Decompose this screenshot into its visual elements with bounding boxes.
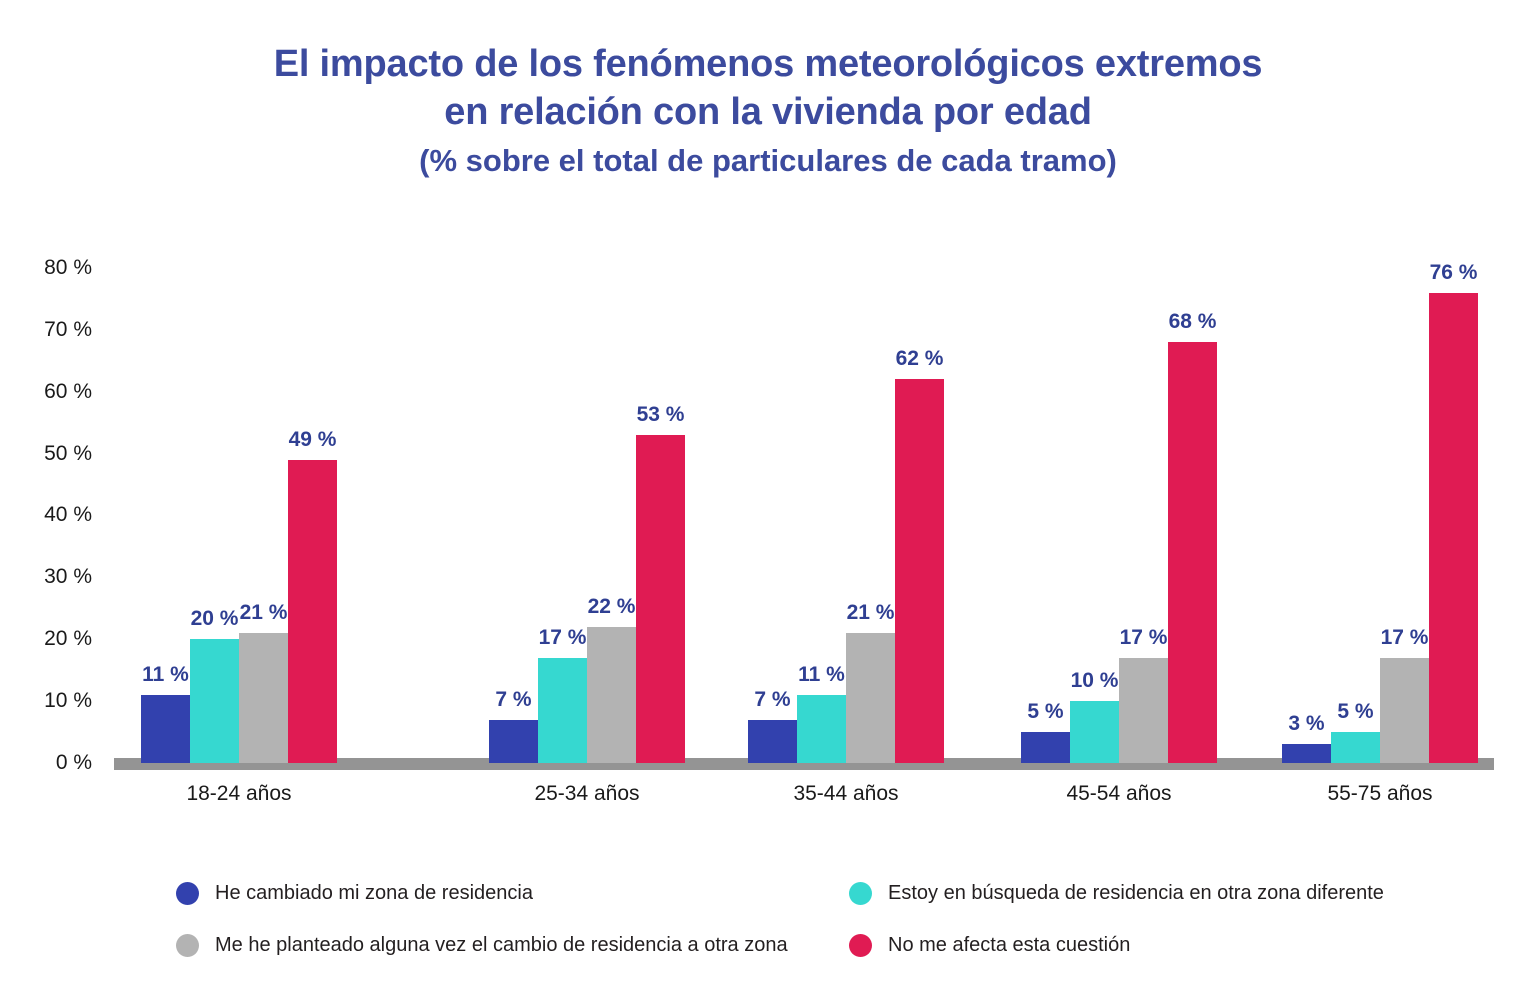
- bar[interactable]: [1119, 658, 1168, 763]
- legend-item[interactable]: Estoy en búsqueda de residencia en otra …: [849, 882, 1384, 905]
- bar[interactable]: [846, 633, 895, 763]
- legend-item[interactable]: He cambiado mi zona de residencia: [176, 882, 533, 905]
- bar[interactable]: [748, 720, 797, 763]
- legend-item[interactable]: Me he planteado alguna vez el cambio de …: [176, 934, 788, 957]
- chart-legend: He cambiado mi zona de residenciaEstoy e…: [0, 872, 1536, 992]
- bar[interactable]: [1168, 342, 1217, 763]
- bar[interactable]: [1282, 744, 1331, 763]
- legend-item[interactable]: No me afecta esta cuestión: [849, 934, 1130, 957]
- plot-area: 11 %20 %21 %49 %7 %17 %22 %53 %7 %11 %21…: [0, 0, 1536, 1001]
- x-axis-tick-label: 25-34 años: [437, 782, 737, 806]
- x-axis-tick-label: 35-44 años: [696, 782, 996, 806]
- bar[interactable]: [797, 695, 846, 763]
- bar[interactable]: [239, 633, 288, 763]
- bar-value-label: 49 %: [268, 428, 358, 452]
- legend-item-label: No me afecta esta cuestión: [888, 934, 1130, 957]
- x-axis-tick-label: 55-75 años: [1230, 782, 1530, 806]
- bar-value-label: 76 %: [1409, 261, 1499, 285]
- bar-chart: 0 %10 %20 %30 %40 %50 %60 %70 %80 % 11 %…: [0, 0, 1536, 1001]
- bar[interactable]: [190, 639, 239, 763]
- legend-swatch-icon: [849, 882, 872, 905]
- x-axis-tick-label: 45-54 años: [969, 782, 1269, 806]
- bar[interactable]: [288, 460, 337, 763]
- bar[interactable]: [587, 627, 636, 763]
- bar-value-label: 53 %: [616, 403, 706, 427]
- bar[interactable]: [636, 435, 685, 763]
- bar[interactable]: [1070, 701, 1119, 763]
- bar[interactable]: [1021, 732, 1070, 763]
- legend-item-label: He cambiado mi zona de residencia: [215, 882, 533, 905]
- bar[interactable]: [1380, 658, 1429, 763]
- legend-swatch-icon: [176, 934, 199, 957]
- legend-item-label: Me he planteado alguna vez el cambio de …: [215, 934, 788, 957]
- x-axis-tick-label: 18-24 años: [89, 782, 389, 806]
- bar[interactable]: [538, 658, 587, 763]
- legend-swatch-icon: [176, 882, 199, 905]
- bar[interactable]: [1429, 293, 1478, 763]
- bar[interactable]: [895, 379, 944, 763]
- bar[interactable]: [1331, 732, 1380, 763]
- bar[interactable]: [489, 720, 538, 763]
- legend-swatch-icon: [849, 934, 872, 957]
- legend-item-label: Estoy en búsqueda de residencia en otra …: [888, 882, 1384, 905]
- bar[interactable]: [141, 695, 190, 763]
- bar-value-label: 68 %: [1148, 310, 1238, 334]
- bar-value-label: 62 %: [875, 347, 965, 371]
